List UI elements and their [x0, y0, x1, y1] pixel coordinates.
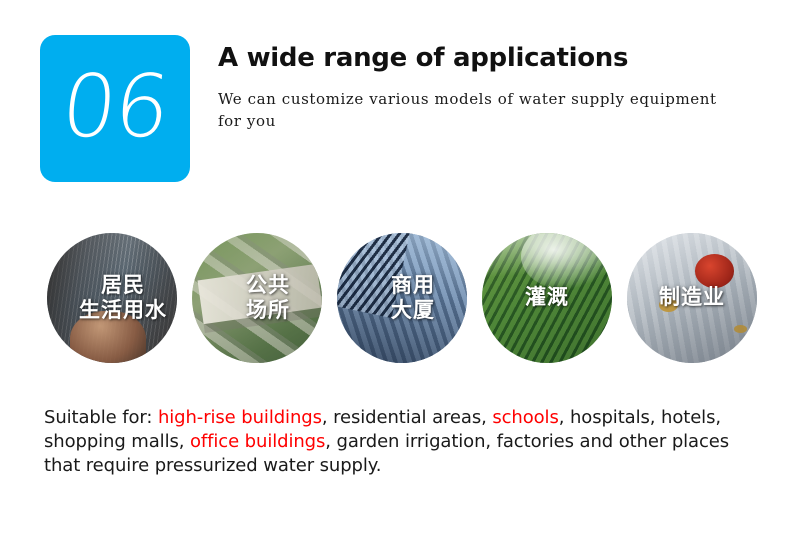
circle-label-line-2: 大厦 [391, 299, 435, 323]
header-text-block: A wide range of applications We can cust… [218, 44, 758, 132]
circle-label-line-2: 生活用水 [79, 299, 167, 323]
circle-label-line-1: 制造业 [659, 286, 725, 310]
circle-label-line-2: 场所 [246, 299, 290, 323]
paragraph-text: , residential areas, [322, 407, 492, 428]
step-number-badge: 06 [40, 35, 190, 182]
highlighted-term: schools [492, 407, 558, 428]
highlighted-term: high-rise buildings [158, 407, 322, 428]
application-circle-label: 公共场所 [192, 233, 322, 363]
page-title: A wide range of applications [218, 44, 758, 74]
step-number-label: 06 [58, 64, 172, 150]
page-subtitle: We can customize various models of water… [218, 89, 718, 133]
application-circle-3[interactable]: 商用大厦 [337, 233, 467, 363]
application-circle-label: 制造业 [627, 233, 757, 363]
application-circle-5[interactable]: 制造业 [627, 233, 757, 363]
application-circle-label: 商用大厦 [337, 233, 467, 363]
application-circle-2[interactable]: 公共场所 [192, 233, 322, 363]
suitable-for-paragraph: Suitable for: high-rise buildings, resid… [44, 406, 754, 477]
application-circles-row: 居民生活用水公共场所商用大厦灌溉制造业 [47, 233, 757, 365]
application-circle-1[interactable]: 居民生活用水 [47, 233, 177, 363]
circle-label-line-1: 灌溉 [525, 286, 569, 310]
circle-label-line-1: 商用 [391, 274, 435, 298]
circle-label-line-1: 居民 [101, 274, 145, 298]
application-circle-label: 灌溉 [482, 233, 612, 363]
circle-label-line-1: 公共 [246, 274, 290, 298]
paragraph-text: Suitable for: [44, 407, 158, 428]
application-circle-label: 居民生活用水 [47, 233, 177, 363]
application-circle-4[interactable]: 灌溉 [482, 233, 612, 363]
highlighted-term: office buildings [190, 431, 325, 452]
header-section: 06 A wide range of applications We can c… [0, 0, 790, 200]
